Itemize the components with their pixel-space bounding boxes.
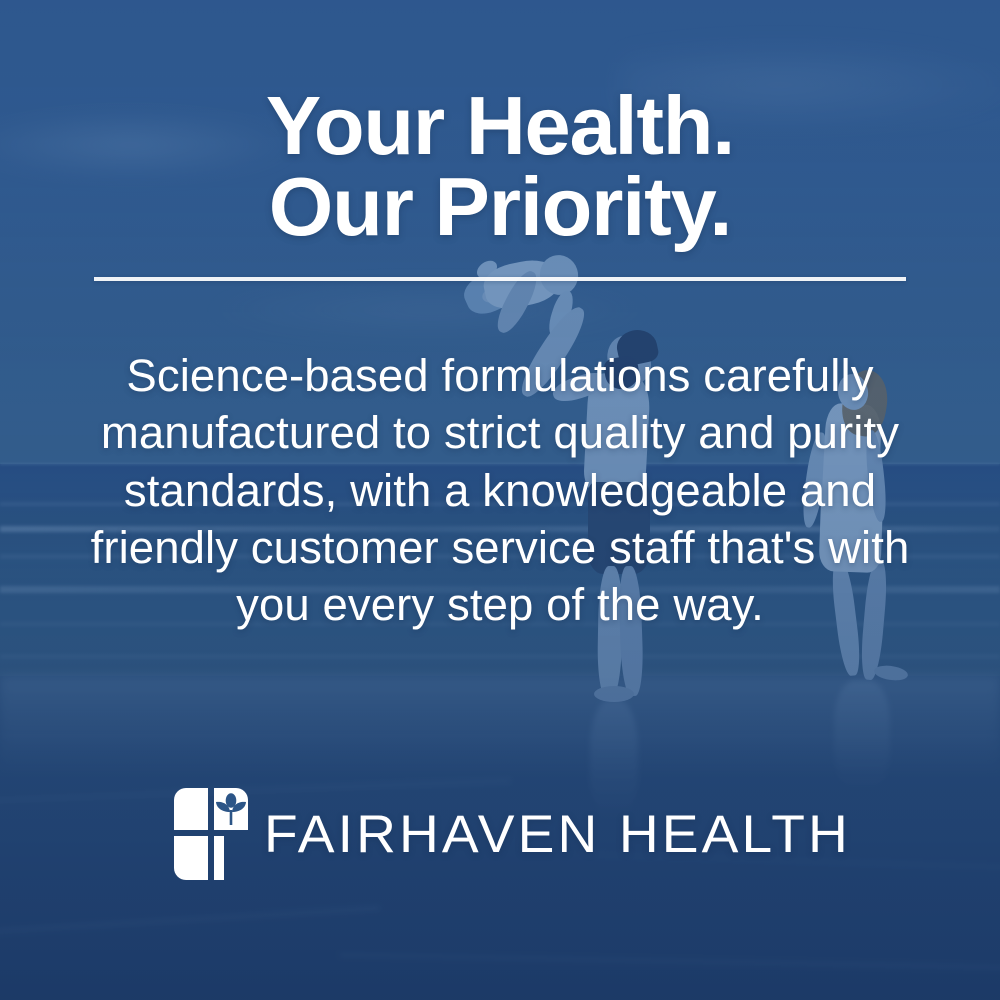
fairhaven-quadrant-sprout-icon bbox=[172, 786, 250, 882]
headline-line-2: Our Priority. bbox=[266, 167, 734, 248]
body-copy: Science-based formulations carefully man… bbox=[55, 347, 945, 634]
page-title: Your Health. Our Priority. bbox=[266, 86, 734, 247]
brand-wordmark: FAIRHAVEN HEALTH bbox=[264, 808, 851, 861]
promo-banner: Your Health. Our Priority. Science-based… bbox=[0, 0, 1000, 1000]
brand-logo-lockup[interactable]: FAIRHAVEN HEALTH bbox=[0, 786, 1000, 882]
divider-rule bbox=[94, 277, 906, 281]
headline-line-1: Your Health. bbox=[266, 79, 734, 172]
